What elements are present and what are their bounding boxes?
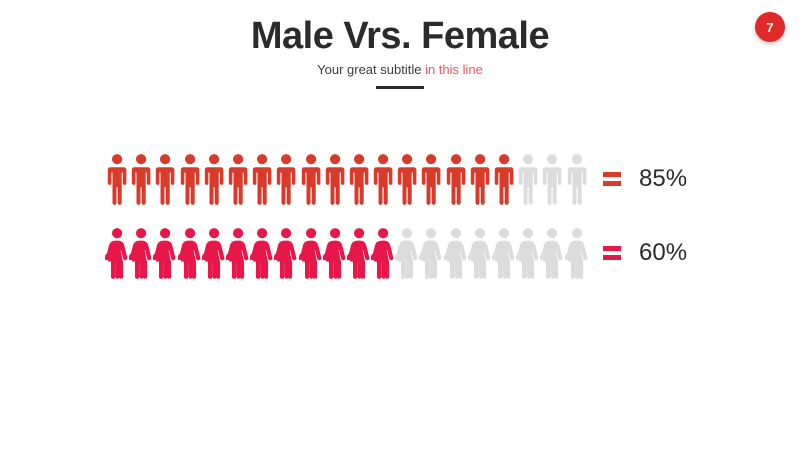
- female-figure-icon: [153, 227, 177, 279]
- male-figure-icon: [565, 153, 589, 205]
- male-figure-icon: [105, 153, 129, 205]
- male-figure-icon: [371, 153, 395, 205]
- female-figure-icon: [492, 227, 516, 279]
- male-figure-icon: [444, 153, 468, 205]
- page-subtitle: Your great subtitle in this line: [0, 62, 800, 78]
- female-figure-icon: [274, 227, 298, 279]
- chart-row-male: 85%: [105, 148, 715, 210]
- page-title: Male Vrs. Female: [0, 14, 800, 58]
- male-figure-icon: [129, 153, 153, 205]
- female-figure-icon: [540, 227, 564, 279]
- equals-sign-male: [603, 172, 621, 186]
- male-figure-icon: [419, 153, 443, 205]
- male-figure-icon: [492, 153, 516, 205]
- subtitle-main-text: Your great subtitle: [317, 62, 421, 77]
- male-figure-icon: [540, 153, 564, 205]
- male-figure-icon: [178, 153, 202, 205]
- male-figure-icon: [202, 153, 226, 205]
- chart-row-female: 60%: [105, 222, 715, 284]
- male-figure-icon: [299, 153, 323, 205]
- female-figure-icon: [395, 227, 419, 279]
- equals-sign-female: [603, 246, 621, 260]
- male-figure-icon: [395, 153, 419, 205]
- female-figure-icon: [323, 227, 347, 279]
- female-figure-icon: [468, 227, 492, 279]
- female-figure-icon: [202, 227, 226, 279]
- female-figure-icon: [371, 227, 395, 279]
- female-figure-icon: [129, 227, 153, 279]
- male-figure-icon: [226, 153, 250, 205]
- female-figure-icon: [250, 227, 274, 279]
- female-figure-icon: [178, 227, 202, 279]
- male-icon-group: [105, 153, 589, 205]
- title-underline-rule: [376, 86, 424, 89]
- subtitle-accent-text: in this line: [425, 62, 483, 77]
- male-percentage-label: 85%: [639, 165, 687, 193]
- female-figure-icon: [444, 227, 468, 279]
- female-percentage-label: 60%: [639, 239, 687, 267]
- female-figure-icon: [419, 227, 443, 279]
- female-figure-icon: [516, 227, 540, 279]
- male-figure-icon: [323, 153, 347, 205]
- female-figure-icon: [299, 227, 323, 279]
- header: Male Vrs. Female Your great subtitle in …: [0, 14, 800, 89]
- male-figure-icon: [274, 153, 298, 205]
- female-figure-icon: [226, 227, 250, 279]
- male-figure-icon: [153, 153, 177, 205]
- female-figure-icon: [347, 227, 371, 279]
- pictogram-chart: 85% 60%: [105, 148, 715, 284]
- male-figure-icon: [516, 153, 540, 205]
- female-figure-icon: [105, 227, 129, 279]
- female-icon-group: [105, 227, 589, 279]
- female-figure-icon: [565, 227, 589, 279]
- male-figure-icon: [250, 153, 274, 205]
- male-figure-icon: [347, 153, 371, 205]
- male-figure-icon: [468, 153, 492, 205]
